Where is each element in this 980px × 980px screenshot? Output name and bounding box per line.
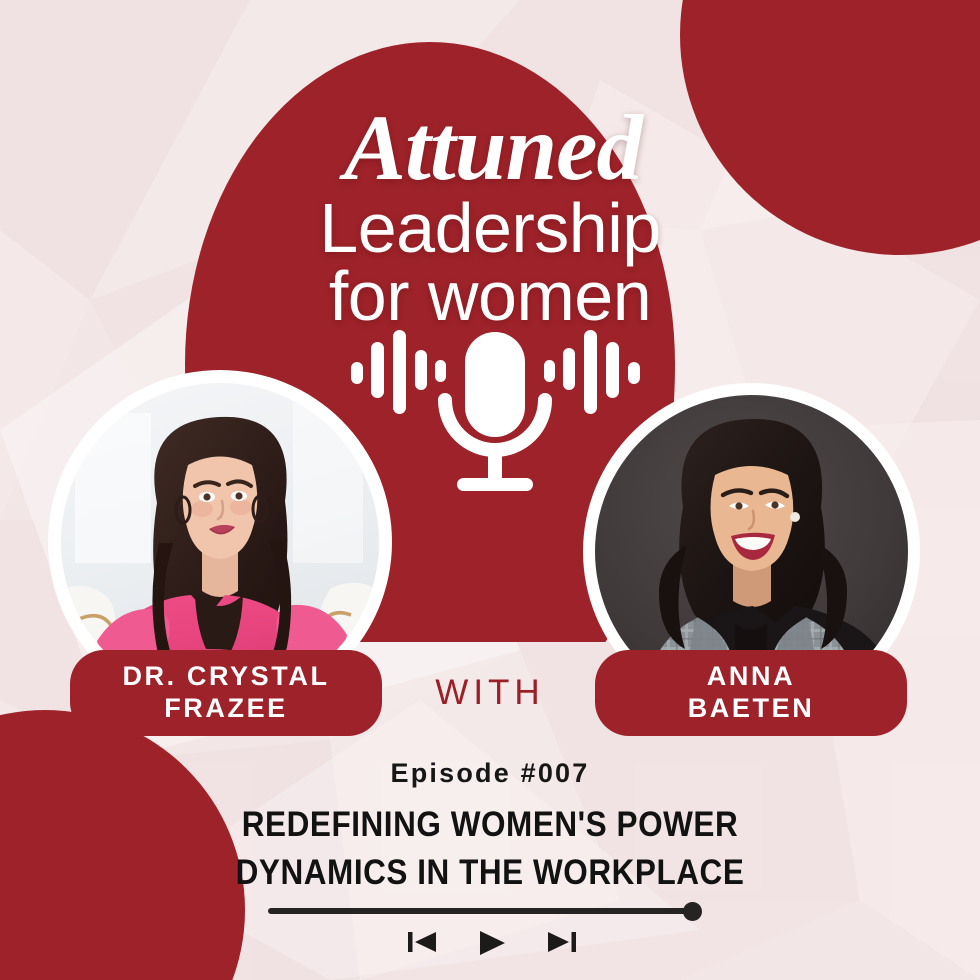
episode-number: Episode #007 (0, 758, 980, 789)
podcast-cover: Attuned Leadership for women (0, 0, 980, 980)
episode-title-line-2: DYNAMICS IN THE WORKPLACE (49, 853, 931, 893)
host-name-pill-right: ANNA BAETEN (595, 650, 907, 736)
progress-bar[interactable] (268, 908, 693, 914)
host-name-left-line-2: FRAZEE (164, 693, 288, 725)
audio-player (0, 898, 980, 962)
with-label: WITH (400, 650, 580, 736)
host-name-right-line-1: ANNA (707, 661, 795, 693)
host-name-left-line-1: DR. CRYSTAL (122, 661, 329, 693)
skip-next-icon[interactable] (546, 929, 578, 960)
skip-previous-icon[interactable] (406, 929, 438, 960)
host-name-pill-left: DR. CRYSTAL FRAZEE (70, 650, 382, 736)
progress-knob[interactable] (683, 902, 702, 921)
episode-title-line-1: REDEFINING WOMEN'S POWER (49, 805, 931, 845)
play-icon[interactable] (477, 929, 507, 962)
host-name-right-line-2: BAETEN (688, 693, 815, 725)
